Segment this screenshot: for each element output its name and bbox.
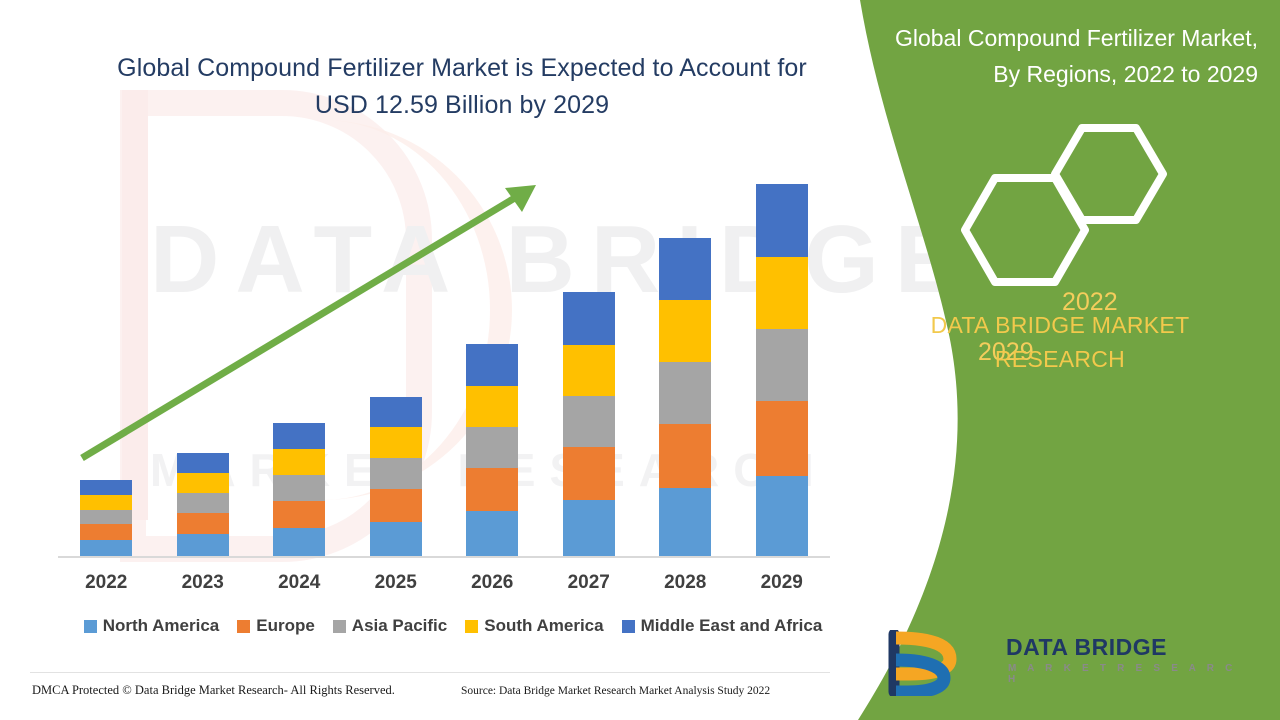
bar-segment — [563, 447, 615, 500]
hexagon-outlines-icon — [840, 120, 1280, 300]
stacked-bar-2029[interactable] — [756, 184, 808, 556]
bar-segment — [563, 396, 615, 447]
legend-label: North America — [103, 616, 220, 636]
bar-slot — [155, 156, 252, 556]
legend-label: South America — [484, 616, 603, 636]
x-axis-tick-2022: 2022 — [58, 572, 155, 594]
legend-item[interactable]: Middle East and Africa — [622, 616, 823, 636]
stacked-bar-2027[interactable] — [563, 292, 615, 556]
hexagon-badges: 2022 2029 — [840, 120, 1280, 300]
bar-segment — [80, 540, 132, 556]
bar-segment — [370, 458, 422, 489]
x-axis-tick-2023: 2023 — [155, 572, 252, 594]
x-axis-tick-2024: 2024 — [251, 572, 348, 594]
bar-slot — [348, 156, 445, 556]
brand-line-2: RESEARCH — [995, 346, 1125, 372]
stacked-bar-2026[interactable] — [466, 344, 518, 556]
data-bridge-logo-icon — [880, 630, 990, 696]
brand-line-1: DATA BRIDGE MARKET — [931, 312, 1190, 338]
legend-swatch-icon — [622, 620, 635, 633]
chart-legend: North AmericaEuropeAsia PacificSouth Ame… — [58, 616, 848, 636]
footer-copyright: DMCA Protected © Data Bridge Market Rese… — [32, 683, 395, 698]
stacked-bar-2023[interactable] — [177, 453, 229, 556]
bar-segment — [80, 510, 132, 524]
legend-item[interactable]: Europe — [237, 616, 315, 636]
footer-divider — [30, 672, 830, 673]
logo-tagline: M A R K E T R E S E A R C H — [1008, 663, 1240, 685]
bar-segment — [273, 528, 325, 556]
logo-wordmark: DATA BRIDGE — [1006, 634, 1167, 661]
panel-title: Global Compound Fertilizer Market, By Re… — [868, 20, 1258, 92]
x-axis-labels: 20222023202420252026202720282029 — [58, 572, 830, 594]
bar-segment — [177, 534, 229, 556]
bar-slot — [444, 156, 541, 556]
legend-item[interactable]: Asia Pacific — [333, 616, 447, 636]
bar-segment — [756, 401, 808, 476]
bar-segment — [659, 424, 711, 488]
bar-slot — [58, 156, 155, 556]
bar-segment — [80, 524, 132, 540]
bar-segment — [466, 427, 518, 468]
bar-segment — [563, 292, 615, 345]
bar-slot — [734, 156, 831, 556]
bar-slot — [637, 156, 734, 556]
bar-segment — [273, 423, 325, 449]
stacked-bar-chart — [58, 150, 830, 558]
bar-slot — [251, 156, 348, 556]
legend-swatch-icon — [465, 620, 478, 633]
bar-segment — [370, 522, 422, 556]
x-axis-tick-2025: 2025 — [348, 572, 445, 594]
legend-item[interactable]: South America — [465, 616, 603, 636]
bar-segment — [659, 300, 711, 362]
legend-label: Middle East and Africa — [641, 616, 823, 636]
bar-segment — [563, 345, 615, 396]
footer-source: Source: Data Bridge Market Research Mark… — [461, 685, 770, 697]
legend-swatch-icon — [333, 620, 346, 633]
legend-label: Asia Pacific — [352, 616, 447, 636]
bar-segment — [273, 449, 325, 475]
bar-segment — [466, 386, 518, 427]
legend-swatch-icon — [84, 620, 97, 633]
x-axis-tick-2027: 2027 — [541, 572, 638, 594]
bar-segment — [177, 513, 229, 534]
bar-segment — [756, 257, 808, 329]
x-axis-tick-2028: 2028 — [637, 572, 734, 594]
bar-segment — [659, 488, 711, 556]
stacked-bar-2028[interactable] — [659, 238, 711, 556]
legend-label: Europe — [256, 616, 315, 636]
company-logo: DATA BRIDGE M A R K E T R E S E A R C H — [880, 630, 1240, 700]
legend-item[interactable]: North America — [84, 616, 220, 636]
bar-segment — [466, 511, 518, 556]
bar-segment — [563, 500, 615, 556]
x-axis-tick-2029: 2029 — [734, 572, 831, 594]
page-title: Global Compound Fertilizer Market is Exp… — [92, 50, 832, 124]
brand-name: DATA BRIDGE MARKET RESEARCH — [870, 308, 1250, 376]
stacked-bar-2025[interactable] — [370, 397, 422, 556]
bar-slot — [541, 156, 638, 556]
bar-segment — [756, 476, 808, 556]
bar-segment — [659, 362, 711, 424]
branding-panel: Global Compound Fertilizer Market, By Re… — [840, 0, 1280, 720]
chart-panel: Global Compound Fertilizer Market is Exp… — [0, 0, 900, 720]
stacked-bar-2022[interactable] — [80, 480, 132, 556]
bar-segment — [370, 397, 422, 427]
bar-segment — [466, 344, 518, 386]
bar-segment — [177, 453, 229, 473]
x-axis-tick-2026: 2026 — [444, 572, 541, 594]
infographic-canvas: DATA BRIDGE MARKET RESEARCH Global Compo… — [0, 0, 1280, 720]
bar-segment — [177, 473, 229, 493]
bar-segment — [370, 489, 422, 522]
bar-segment — [80, 480, 132, 495]
bar-segment — [80, 495, 132, 510]
bar-segment — [466, 468, 518, 511]
x-axis-line — [58, 556, 830, 558]
bar-segment — [273, 501, 325, 528]
bar-segment — [756, 184, 808, 257]
bar-group — [58, 156, 830, 556]
bar-segment — [273, 475, 325, 501]
bar-segment — [659, 238, 711, 300]
legend-swatch-icon — [237, 620, 250, 633]
bar-segment — [177, 493, 229, 513]
bar-segment — [756, 329, 808, 401]
stacked-bar-2024[interactable] — [273, 423, 325, 556]
bar-segment — [370, 427, 422, 458]
